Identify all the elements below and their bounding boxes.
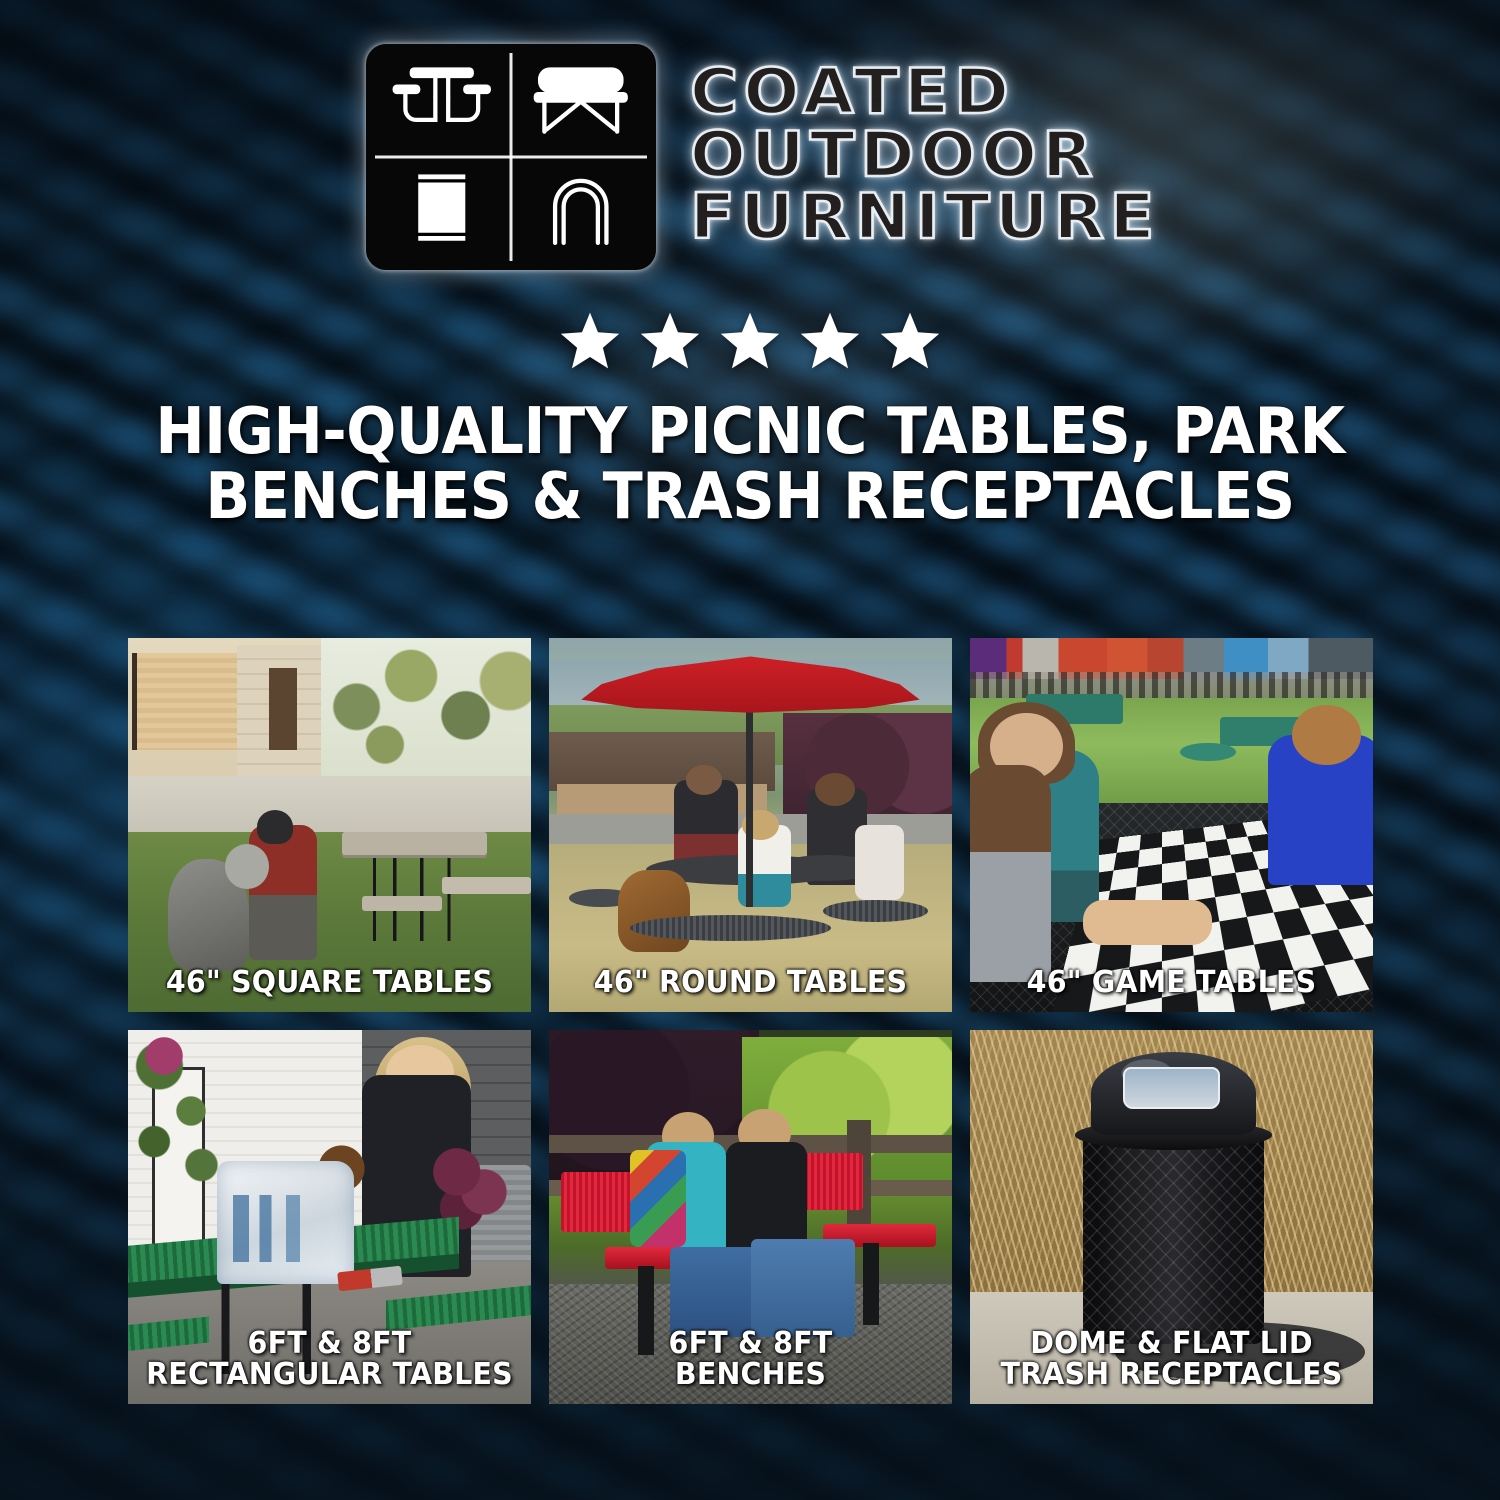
product-card-game-tables[interactable]: 46" GAME TABLES [970,638,1373,1012]
star-icon [878,310,942,372]
picnic-table-front-icon [372,50,511,157]
product-caption-line-2: BENCHES [567,1359,935,1390]
brand-wordmark: COATED OUTDOOR FURNITURE [690,62,1133,252]
product-caption-line-1: 46" GAME TABLES [1027,965,1317,1000]
product-caption: 46" SQUARE TABLES [138,967,521,998]
star-icon [718,310,782,372]
product-photo-square-tables [128,638,531,1012]
product-caption: 46" ROUND TABLES [559,967,942,998]
brand-word-furniture: FURNITURE [690,187,1160,248]
product-card-square-tables[interactable]: 46" SQUARE TABLES [128,638,531,1012]
product-card-round-tables[interactable]: 46" ROUND TABLES [549,638,952,1012]
star-icon [798,310,862,372]
product-card-trash-receptacles[interactable]: DOME & FLAT LID TRASH RECEPTACLES [970,1030,1373,1404]
product-caption: 6FT & 8FT BENCHES [559,1328,942,1390]
star-icon [558,310,622,372]
product-caption-line-2: TRASH RECEPTACLES [988,1359,1356,1390]
brand-logo: COATED OUTDOOR FURNITURE [0,0,1500,252]
brand-word-coated: COATED [690,62,1160,123]
product-caption: 6FT & 8FT RECTANGULAR TABLES [138,1328,521,1390]
star-icon [638,310,702,372]
product-photo-round-tables [549,638,952,1012]
product-caption-line-1: 6FT & 8FT [669,1326,833,1361]
rating-stars [0,304,1500,378]
page-title: HIGH-QUALITY PICNIC TABLES, PARK BENCHES… [60,400,1440,531]
promo-banner: COATED OUTDOOR FURNITURE HIGH-QUALITY PI… [0,0,1500,1500]
product-caption-line-2: RECTANGULAR TABLES [146,1359,514,1390]
headline-line-2: BENCHES & TRASH RECEPTACLES [60,465,1440,530]
product-caption: DOME & FLAT LID TRASH RECEPTACLES [980,1328,1363,1390]
arch-bike-rack-icon [511,157,650,264]
product-caption: 46" GAME TABLES [980,967,1363,998]
product-card-rectangular-tables[interactable]: 6FT & 8FT RECTANGULAR TABLES [128,1030,531,1404]
product-card-benches[interactable]: 6FT & 8FT BENCHES [549,1030,952,1404]
bench-table-side-icon [511,50,650,157]
headline-line-1: HIGH-QUALITY PICNIC TABLES, PARK [60,400,1440,465]
logo-icon-grid [366,44,656,270]
product-caption-line-1: DOME & FLAT LID [1030,1326,1313,1361]
product-caption-line-1: 46" ROUND TABLES [594,965,907,1000]
product-grid: 46" SQUARE TABLES 46" ROUND TABLES [128,638,1373,1404]
product-caption-line-1: 6FT & 8FT [248,1326,412,1361]
product-photo-game-tables [970,638,1373,1012]
brand-word-outdoor: OUTDOOR [690,125,1160,186]
product-caption-line-1: 46" SQUARE TABLES [166,965,493,1000]
trash-receptacle-icon [372,157,511,264]
